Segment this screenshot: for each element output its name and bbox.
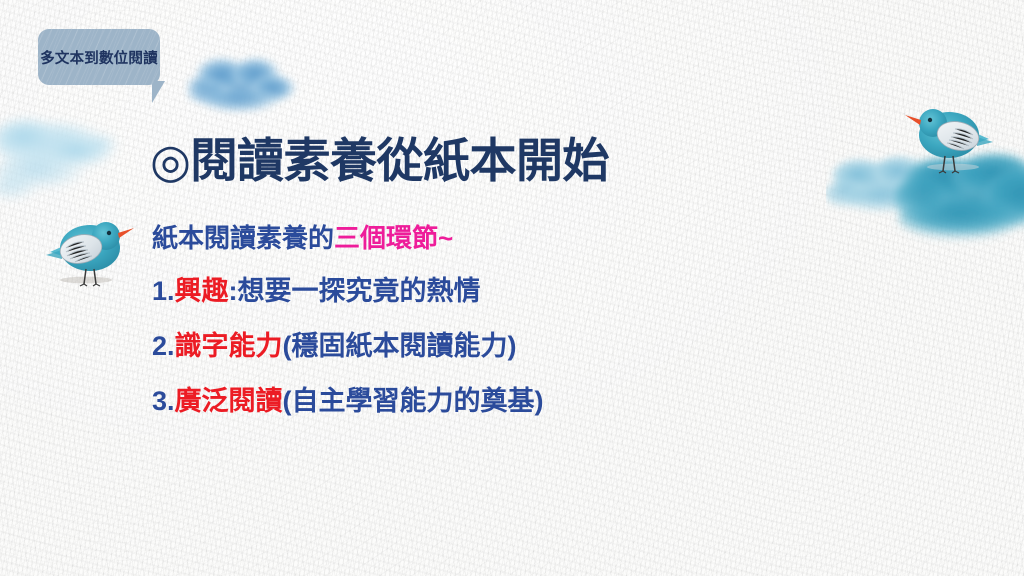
bullet-item-2: 2.識字能力(穩固紙本閱讀能力): [152, 324, 517, 363]
bullet-3-rest: (自主學習能力的奠基): [283, 386, 544, 416]
bullet-1-keyword: 興趣: [175, 276, 229, 306]
subtitle-highlight: 三個環節~: [334, 223, 453, 253]
cloud-top-left-wisp: [0, 100, 150, 215]
speech-bubble-label: 多文本到數位閱讀: [38, 29, 160, 85]
page-title: ◎閱讀素養從紙本開始: [150, 136, 609, 186]
bullet-item-3: 3.廣泛閱讀(自主學習能力的奠基): [152, 379, 544, 418]
bullet-item-1: 1.興趣:想要一探究竟的熱情: [152, 269, 481, 308]
bullet-3-number: 3.: [152, 386, 175, 416]
speech-bubble: 多文本到數位閱讀: [38, 29, 160, 85]
bullet-2-number: 2.: [152, 331, 175, 361]
bullet-2-keyword: 識字能力: [175, 331, 283, 361]
cloud-behind-bubble: [182, 40, 312, 130]
bird-right: [905, 95, 997, 181]
slide-canvas: 多文本到數位閱讀: [0, 0, 1024, 576]
subtitle-lead: 紙本閱讀素養的: [152, 223, 334, 253]
bullet-1-number: 1.: [152, 276, 175, 306]
bullet-2-rest: (穩固紙本閱讀能力): [283, 331, 517, 361]
subtitle-line: 紙本閱讀素養的三個環節~: [152, 218, 453, 255]
bullet-1-rest: :想要一探究竟的熱情: [229, 276, 481, 306]
bird-left: [42, 208, 134, 294]
bullet-3-keyword: 廣泛閱讀: [175, 386, 283, 416]
